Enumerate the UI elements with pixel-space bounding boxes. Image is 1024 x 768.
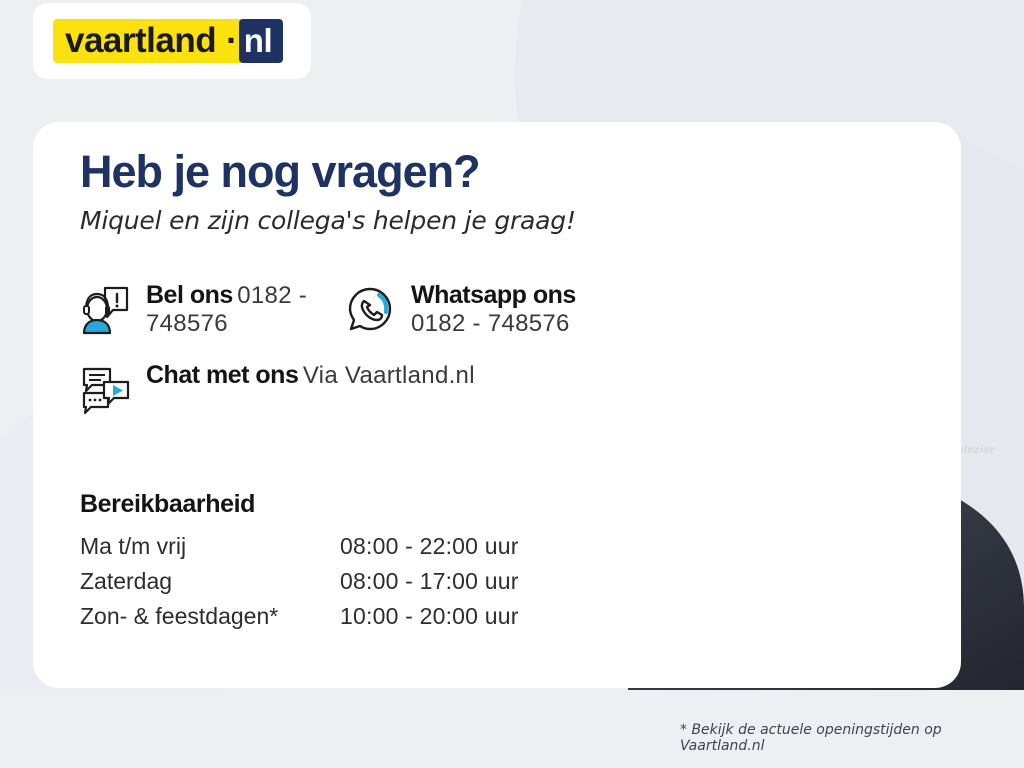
hours-day: Zon- & feestdagen* [80,603,340,630]
hours-time: 10:00 - 20:00 uur [340,603,519,630]
contact-title-call: Bel ons [146,281,233,309]
page-subtitle: Miquel en zijn collega's helpen je graag… [80,206,680,235]
contact-value-whatsapp: 0182 - 748576 [411,310,570,337]
whatsapp-icon [345,284,395,336]
logo-wordmark: vaartland [53,19,226,63]
contact-methods: Bel ons 0182 - 748576 Whatsapp on [80,282,680,416]
contact-item-whatsapp[interactable]: Whatsapp ons 0182 - 748576 [345,282,605,338]
hero-block: Heb je nog vragen? Miquel en zijn colleg… [80,148,680,235]
headset-person-icon [80,284,130,336]
page-title: Heb je nog vragen? [80,148,680,195]
content-card: Heb je nog vragen? Miquel en zijn colleg… [33,122,961,688]
footnote: * Bekijk de actuele openingstijden op Va… [680,722,1024,754]
opening-hours-title: Bereikbaarheid [80,490,519,519]
logo-tld: nl [239,19,283,63]
contact-item-call[interactable]: Bel ons 0182 - 748576 [80,282,345,338]
hours-row: Zaterdag 08:00 - 17:00 uur [80,568,519,595]
contact-value-chat: Via Vaartland.nl [303,362,475,389]
hours-time: 08:00 - 17:00 uur [340,568,519,595]
hours-row: Ma t/m vrij 08:00 - 22:00 uur [80,533,519,560]
contact-item-chat[interactable]: Chat met ons Via Vaartland.nl [80,362,680,416]
contact-title-chat: Chat met ons [146,361,298,389]
contact-title-whatsapp: Whatsapp ons [411,281,576,309]
hours-day: Zaterdag [80,568,340,595]
opening-hours: Bereikbaarheid Ma t/m vrij 08:00 - 22:00… [80,490,519,638]
poster-canvas: vaartland .nl doe jezelf een plezier Miq… [0,0,1024,768]
chat-bubbles-icon [80,364,130,416]
contact-row-primary: Bel ons 0182 - 748576 Whatsapp on [80,282,680,338]
brand-logo[interactable]: vaartland · nl [33,3,311,79]
logo-lockup: vaartland · nl [53,19,283,63]
hours-day: Ma t/m vrij [80,533,340,560]
hours-row: Zon- & feestdagen* 10:00 - 20:00 uur [80,603,519,630]
hours-time: 08:00 - 22:00 uur [340,533,519,560]
